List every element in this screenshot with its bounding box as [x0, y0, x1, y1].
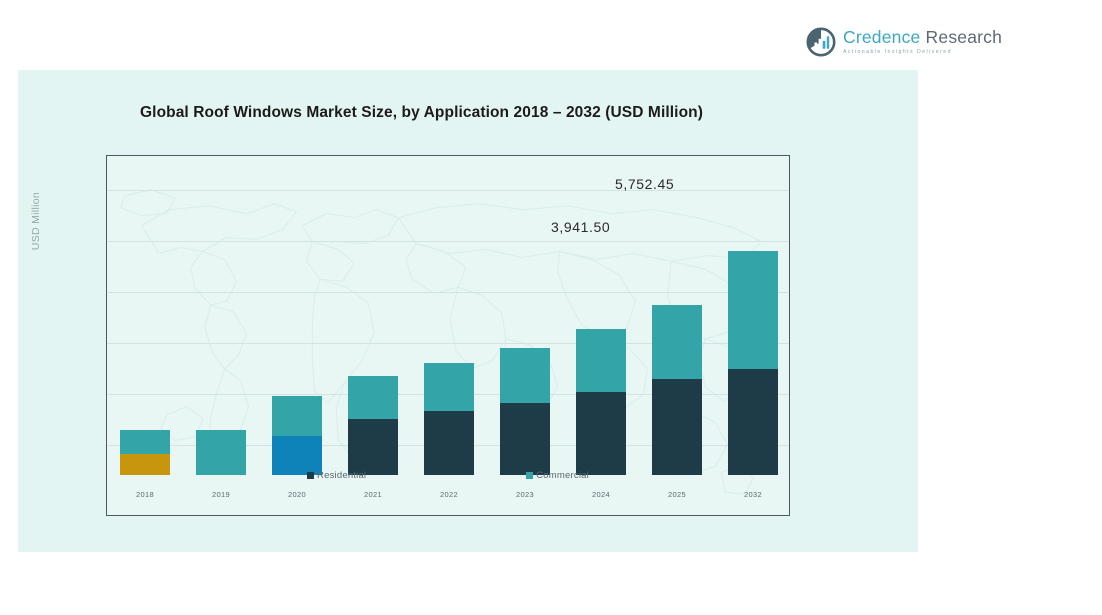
y-axis-title: USD Million	[30, 192, 42, 250]
bar-segment-residential-2025[interactable]	[652, 379, 702, 475]
logo-wordmark: Credence Research	[843, 29, 1002, 47]
bar-segment-commercial-2032[interactable]	[728, 251, 778, 369]
x-axis-label-2020: 2020	[288, 490, 306, 499]
logo-tagline: Actionable Insights Delivered	[843, 50, 1002, 55]
x-axis-label-2023: 2023	[516, 490, 534, 499]
bar-chart-circle-icon	[806, 27, 836, 57]
plot-area: 5,752.45 3,941.50 2018201920202021202220…	[106, 155, 790, 516]
x-axis-label-2025: 2025	[668, 490, 686, 499]
bar-series-container: 201820192020202120222023202420252032	[107, 230, 789, 475]
x-axis-label-2022: 2022	[440, 490, 458, 499]
bar-group-2024[interactable]: 2024	[576, 329, 626, 475]
bar-segment-commercial-2022[interactable]	[424, 363, 474, 411]
bar-segment-commercial-2024[interactable]	[576, 329, 626, 392]
bar-segment-commercial-2020[interactable]	[272, 396, 322, 435]
bar-segment-residential-2032[interactable]	[728, 369, 778, 475]
x-axis-label-2032: 2032	[744, 490, 762, 499]
legend-item-residential[interactable]: Residential	[307, 470, 366, 481]
chart-title: Global Roof Windows Market Size, by Appl…	[140, 104, 703, 122]
bar-group-2022[interactable]: 2022	[424, 363, 474, 475]
legend-item-commercial[interactable]: Commercial	[526, 470, 589, 481]
x-axis-label-2024: 2024	[592, 490, 610, 499]
bar-group-2023[interactable]: 2023	[500, 348, 550, 475]
bar-group-2019[interactable]: 2019	[196, 430, 246, 475]
chart-legend: Residential Commercial	[106, 470, 790, 481]
bar-group-2021[interactable]: 2021	[348, 376, 398, 475]
bar-segment-commercial-2023[interactable]	[500, 348, 550, 403]
bar-segment-residential-2021[interactable]	[348, 419, 398, 475]
bar-segment-commercial-2025[interactable]	[652, 305, 702, 379]
bar-group-2032[interactable]: 2032	[728, 251, 778, 475]
chart-card: Global Roof Windows Market Size, by Appl…	[18, 70, 918, 552]
logo-name-primary: Credence	[843, 27, 920, 47]
legend-label-commercial: Commercial	[536, 470, 589, 481]
bar-segment-commercial-2021[interactable]	[348, 376, 398, 420]
legend-label-residential: Residential	[317, 470, 366, 481]
x-axis-label-2018: 2018	[136, 490, 154, 499]
bar-segment-residential-2024[interactable]	[576, 392, 626, 475]
bar-segment-residential-2022[interactable]	[424, 411, 474, 475]
legend-swatch-residential	[307, 472, 314, 479]
bar-segment-residential-2023[interactable]	[500, 403, 550, 475]
bar-segment-commercial-2019[interactable]	[196, 430, 246, 475]
legend-swatch-commercial	[526, 472, 533, 479]
x-axis-label-2021: 2021	[364, 490, 382, 499]
bar-group-2018[interactable]: 2018	[120, 430, 170, 475]
logo-name-secondary: Research	[926, 27, 1003, 47]
value-label-2032: 5,752.45	[615, 176, 674, 192]
brand-logo: Credence Research Actionable Insights De…	[806, 22, 1006, 62]
bar-group-2020[interactable]: 2020	[272, 396, 322, 475]
bar-segment-commercial-2018[interactable]	[120, 430, 170, 454]
bar-group-2025[interactable]: 2025	[652, 305, 702, 475]
x-axis-label-2019: 2019	[212, 490, 230, 499]
